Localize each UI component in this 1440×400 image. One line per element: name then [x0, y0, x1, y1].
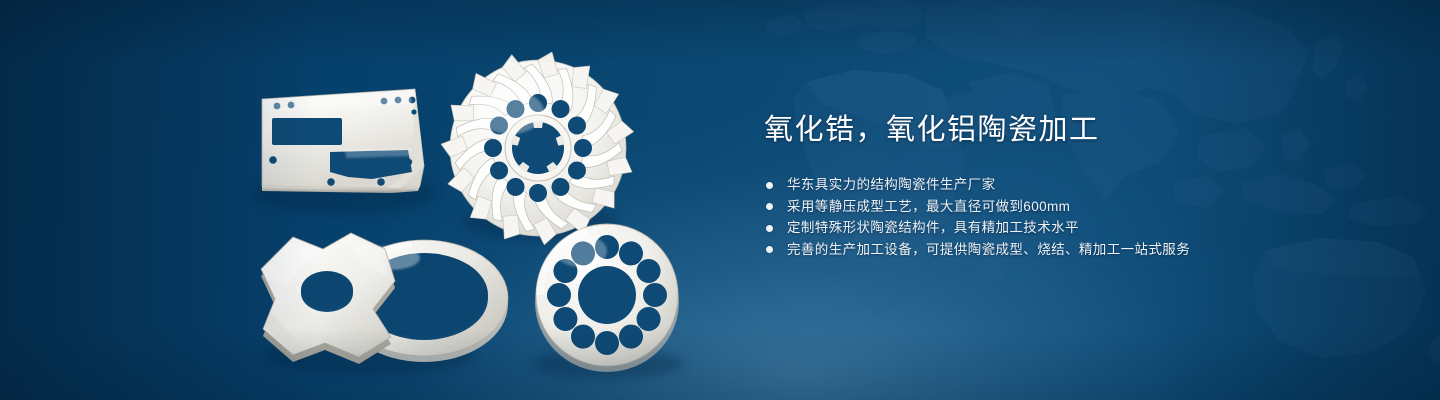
ceramic-ring-shape: [340, 240, 508, 362]
ceramic-plate-shape: [262, 89, 424, 193]
bullet-dot-icon: [766, 246, 773, 253]
list-item: 完善的生产加工设备，可提供陶瓷成型、烧结、精加工一站式服务: [764, 239, 1384, 261]
hero-banner: 氧化锆，氧化铝陶瓷加工 华东具实力的结构陶瓷件生产厂家 采用等静压成型工艺，最大…: [0, 0, 1440, 400]
list-item-label: 完善的生产加工设备，可提供陶瓷成型、烧结、精加工一站式服务: [787, 242, 1190, 257]
list-item-label: 华东具实力的结构陶瓷件生产厂家: [787, 177, 996, 192]
bullet-dot-icon: [766, 225, 773, 232]
ceramic-cross-part-shape: [261, 233, 395, 364]
list-item-label: 采用等静压成型工艺，最大直径可做到600mm: [787, 199, 1070, 214]
list-item: 采用等静压成型工艺，最大直径可做到600mm: [764, 196, 1384, 218]
bullet-dot-icon: [766, 182, 773, 189]
list-item: 定制特殊形状陶瓷结构件，具有精加工技术水平: [764, 217, 1384, 239]
bullet-dot-icon: [766, 203, 773, 210]
banner-headline: 氧化锆，氧化铝陶瓷加工: [764, 110, 1384, 150]
ceramic-products-photo: [0, 0, 740, 400]
ceramic-impeller-shape: [440, 52, 635, 246]
ceramic-perforated-disc-shape: [535, 224, 679, 372]
banner-feature-list: 华东具实力的结构陶瓷件生产厂家 采用等静压成型工艺，最大直径可做到600mm 定…: [764, 174, 1384, 260]
list-item-label: 定制特殊形状陶瓷结构件，具有精加工技术水平: [787, 220, 1079, 235]
list-item: 华东具实力的结构陶瓷件生产厂家: [764, 174, 1384, 196]
banner-copy: 氧化锆，氧化铝陶瓷加工 华东具实力的结构陶瓷件生产厂家 采用等静压成型工艺，最大…: [764, 110, 1384, 260]
